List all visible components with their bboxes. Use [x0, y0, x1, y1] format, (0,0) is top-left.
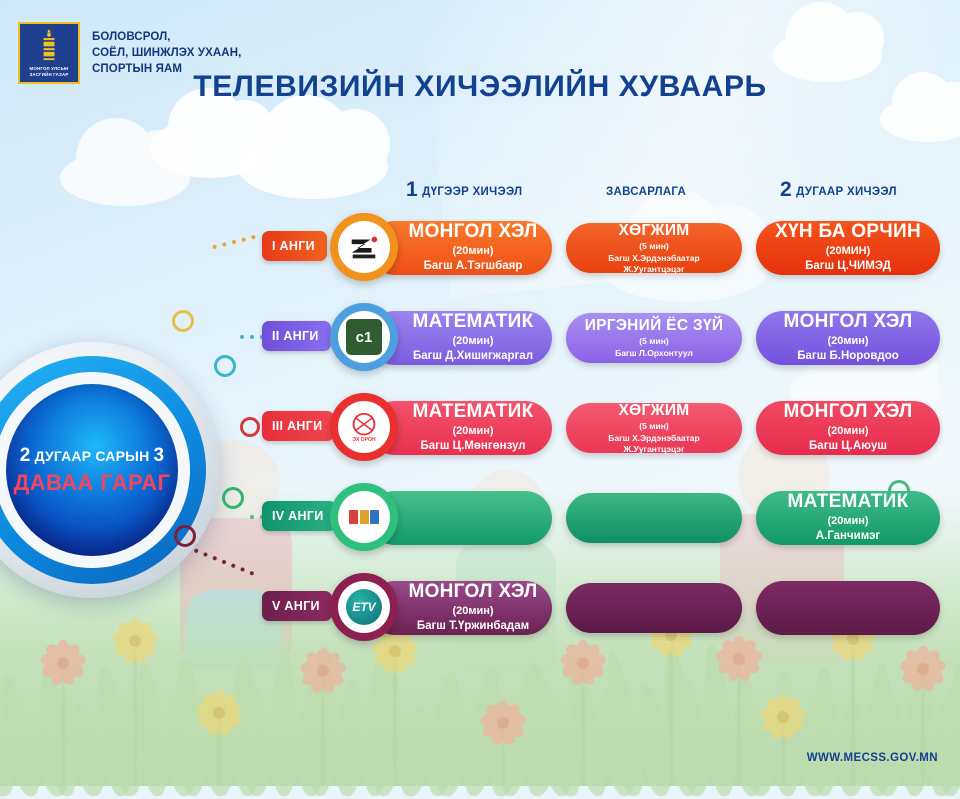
- schedule-cell[interactable]: ХӨГЖИМ(5 мин)Багш Х.Эрдэнэбаатар Ж.Ууган…: [566, 403, 742, 453]
- schedule-cell[interactable]: МОНГОЛ ХЭЛ(20мин)Багш Б.Норовдоо: [756, 311, 940, 365]
- table-row: I АНГИМОНГОЛ ХЭЛ(20мин)Багш А.ТэгшбаярХӨ…: [0, 215, 960, 281]
- channel-logo-inner: ЭХ ОРОН: [338, 401, 390, 453]
- cell-duration: (20мин): [452, 335, 493, 347]
- cell-teacher: Багш Ц.Аюуш: [809, 439, 887, 453]
- class-badge-label: V АНГИ: [272, 599, 320, 613]
- svg-text:ЭХ ОРОН: ЭХ ОРОН: [352, 437, 376, 443]
- eh-oron-channel-glyph: ЭХ ОРОН: [346, 409, 382, 445]
- class-badge-label: IV АНГИ: [272, 509, 324, 523]
- class-badge-label: III АНГИ: [272, 419, 322, 433]
- table-row: V АНГИETVМОНГОЛ ХЭЛ(20мин)Багш Т.Үржинба…: [0, 575, 960, 641]
- schedule-cell-empty[interactable]: [566, 493, 742, 543]
- class-badge[interactable]: V АНГИ: [262, 591, 332, 621]
- cell-subject: МАТЕМАТИК: [787, 492, 908, 513]
- cell-teacher: Багш Х.Эрдэнэбаатар Ж.Уугантцэцэг: [608, 433, 699, 454]
- cell-subject: МОНГОЛ ХЭЛ: [783, 402, 912, 423]
- cell-teacher: Багш Т.Үржинбадам: [417, 619, 529, 633]
- cell-teacher: Багш Л.Орхонтуул: [615, 348, 693, 359]
- cell-duration: (20мин): [827, 425, 868, 437]
- class-badge-label: II АНГИ: [272, 329, 319, 343]
- cell-subject: МАТЕМАТИК: [412, 312, 533, 333]
- cell-teacher: Багш А.Тэгшбаяр: [424, 259, 523, 273]
- cell-subject: МОНГОЛ ХЭЛ: [408, 222, 537, 243]
- cell-duration: (20МИН): [826, 245, 871, 257]
- cell-subject: ХҮН БА ОРЧИН: [775, 222, 921, 243]
- schedule-cell[interactable]: МАТЕМАТИК(20мин)А.Ганчимэг: [756, 491, 940, 545]
- schedule-cell[interactable]: ХӨГЖИМ(5 мин)Багш Х.Эрдэнэбаатар Ж.Ууган…: [566, 223, 742, 273]
- etv-tv-logo[interactable]: ETV: [330, 573, 398, 641]
- cell-teacher: А.Ганчимэг: [816, 529, 880, 543]
- cell-duration: (20мин): [452, 605, 493, 617]
- eh-oron-tv-logo[interactable]: ЭХ ОРОН: [330, 393, 398, 461]
- table-row: IV АНГИМАТЕМАТИК(20мин)А.Ганчимэг: [0, 485, 960, 551]
- schedule-cell[interactable]: ХҮН БА ОРЧИН(20МИН)Багш Ц.ЧИМЭД: [756, 221, 940, 275]
- cell-subject: ХӨГЖИМ: [618, 222, 689, 239]
- footer-url: WWW.MECSS.GOV.MN: [807, 752, 938, 764]
- cell-subject: ХӨГЖИМ: [618, 402, 689, 419]
- schedule-cell[interactable]: ИРГЭНИЙ ЁС ЗҮЙ(5 мин)Багш Л.Орхонтуул: [566, 313, 742, 363]
- cell-teacher: Багш Ц.ЧИМЭД: [805, 259, 891, 273]
- etv-channel-glyph: ETV: [346, 589, 382, 625]
- zs-tv-logo[interactable]: [330, 213, 398, 281]
- cell-duration: (5 мин): [639, 336, 668, 346]
- schedule-grid: I АНГИМОНГОЛ ХЭЛ(20мин)Багш А.ТэгшбаярХӨ…: [0, 0, 960, 786]
- cell-duration: (5 мин): [639, 421, 668, 431]
- cell-subject: ИРГЭНИЙ ЁС ЗҮЙ: [585, 317, 724, 334]
- class-badge[interactable]: II АНГИ: [262, 321, 331, 351]
- cell-duration: (20мин): [452, 425, 493, 437]
- channel-logo-inner: [338, 221, 390, 273]
- bbs-tv-logo[interactable]: [330, 483, 398, 551]
- schedule-cell-empty[interactable]: [566, 583, 742, 633]
- zs-channel-glyph: [346, 229, 382, 265]
- cell-duration: (20мин): [827, 335, 868, 347]
- cell-teacher: Багш Б.Норовдоо: [797, 349, 899, 363]
- c1-tv-logo[interactable]: c1: [330, 303, 398, 371]
- cell-teacher: Багш Х.Эрдэнэбаатар Ж.Уугантцэцэг: [608, 253, 699, 274]
- cell-duration: (20мин): [827, 515, 868, 527]
- class-badge[interactable]: III АНГИ: [262, 411, 334, 441]
- schedule-cell[interactable]: МОНГОЛ ХЭЛ(20мин)Багш Ц.Аюуш: [756, 401, 940, 455]
- class-badge[interactable]: I АНГИ: [262, 231, 327, 261]
- channel-logo-inner: ETV: [338, 581, 390, 633]
- table-row: III АНГИЭХ ОРОНМАТЕМАТИК(20мин)Багш Ц.Мө…: [0, 395, 960, 461]
- channel-logo-inner: c1: [338, 311, 390, 363]
- cell-teacher: Багш Д.Хишигжаргал: [413, 349, 533, 363]
- c1-channel-glyph: c1: [346, 319, 382, 355]
- schedule-cell-empty[interactable]: [756, 581, 940, 635]
- class-badge-label: I АНГИ: [272, 239, 315, 253]
- channel-logo-inner: [338, 491, 390, 543]
- cell-duration: (5 мин): [639, 241, 668, 251]
- table-row: II АНГИc1МАТЕМАТИК(20мин)Багш Д.Хишигжар…: [0, 305, 960, 371]
- class-badge[interactable]: IV АНГИ: [262, 501, 336, 531]
- cell-subject: МОНГОЛ ХЭЛ: [783, 312, 912, 333]
- cell-teacher: Багш Ц.Мөнгөнзул: [420, 439, 525, 453]
- cell-subject: МОНГОЛ ХЭЛ: [408, 582, 537, 603]
- bbs-channel-glyph: [346, 499, 382, 535]
- cell-duration: (20мин): [452, 245, 493, 257]
- cell-subject: МАТЕМАТИК: [412, 402, 533, 423]
